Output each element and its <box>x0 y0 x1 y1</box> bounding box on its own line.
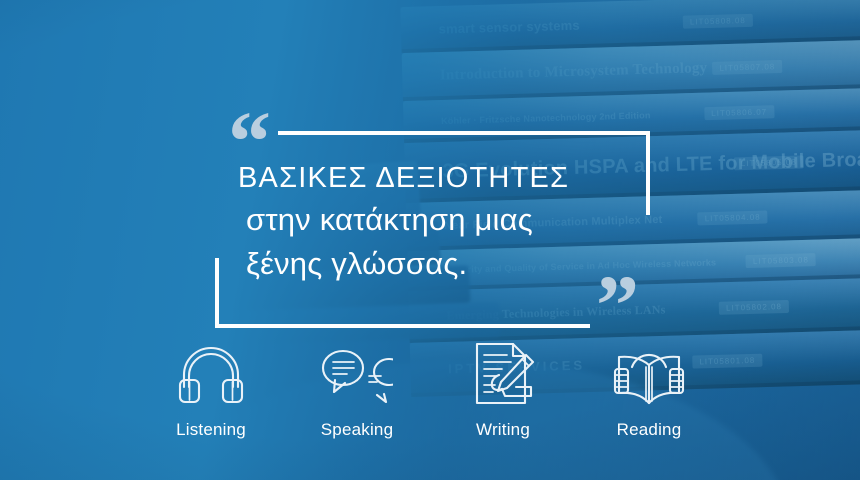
headline-line-1: ΒΑΣΙΚΕΣ ΔΕΞΙΟΤΗΤΕΣ <box>238 158 658 198</box>
skill-item-listening[interactable]: Listening <box>140 338 282 440</box>
hand-writing-document-icon <box>464 338 542 410</box>
skill-label: Speaking <box>321 420 394 440</box>
skill-item-speaking[interactable]: Speaking <box>286 338 428 440</box>
language-skills-banner: smart sensor systems LIT05808.08 Introdu… <box>0 0 860 480</box>
headphones-icon <box>172 338 250 410</box>
headline-line-3: ξένης γλώσσας. <box>246 242 658 286</box>
headline-block: ΒΑΣΙΚΕΣ ΔΕΞΙΟΤΗΤΕΣ στην κατάκτηση μιας ξ… <box>238 158 658 286</box>
speech-bubbles-icon <box>318 338 396 410</box>
skills-row: Listening Speaking <box>140 338 720 440</box>
headline-line-2: στην κατάκτηση μιας <box>246 198 658 242</box>
skill-label: Listening <box>176 420 246 440</box>
skill-label: Writing <box>476 420 530 440</box>
skill-item-writing[interactable]: Writing <box>432 338 574 440</box>
skill-item-reading[interactable]: Reading <box>578 338 720 440</box>
person-reading-book-icon <box>610 338 688 410</box>
skill-label: Reading <box>617 420 682 440</box>
